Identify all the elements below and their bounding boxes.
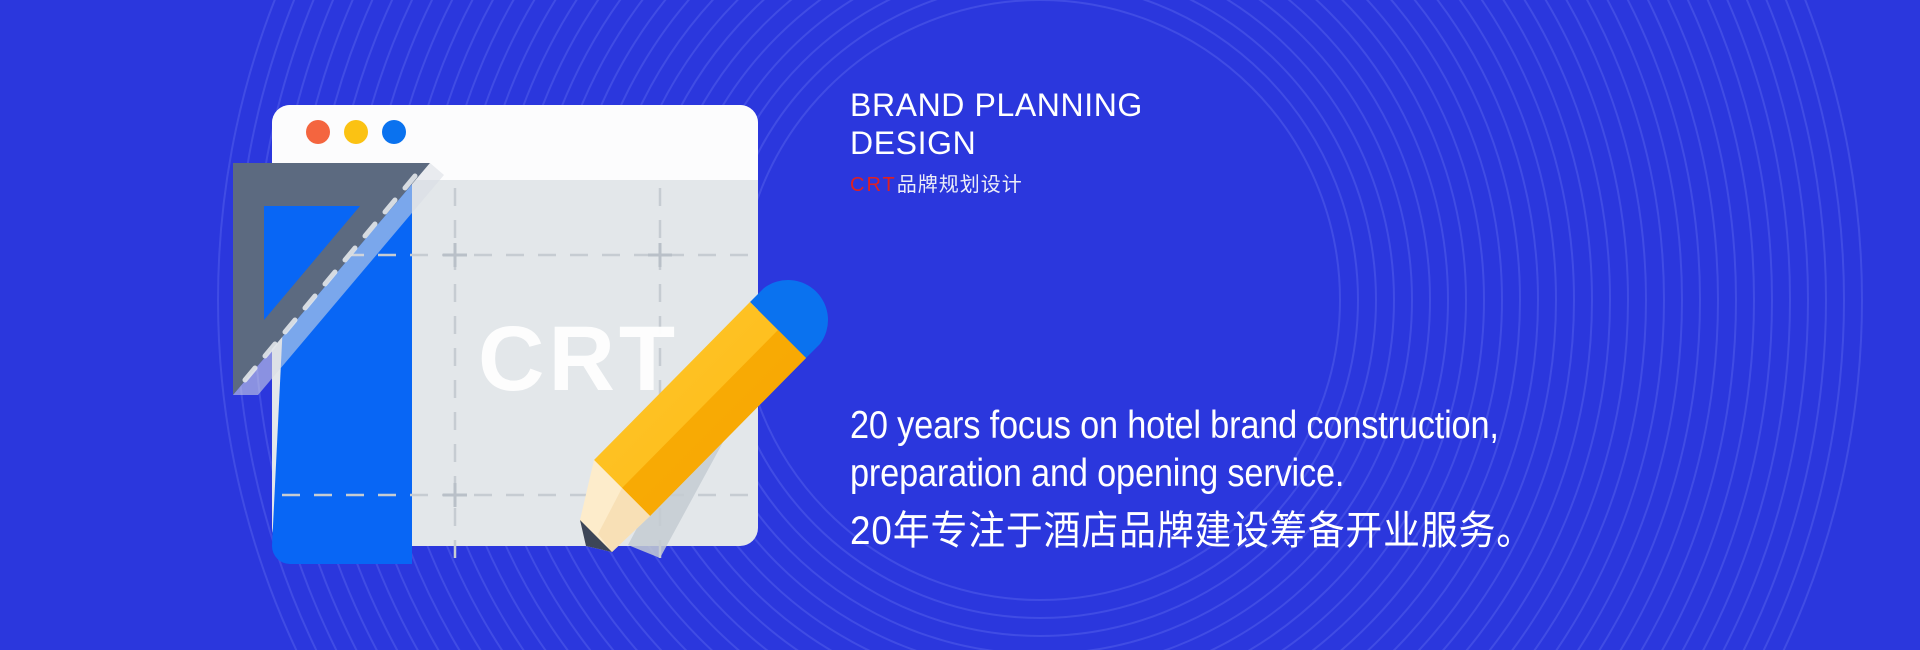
svg-text:CRT: CRT — [478, 308, 679, 410]
tagline-chinese: 20年专注于酒店品牌建设筹备开业服务。 — [850, 506, 1733, 556]
brand-banner: CRT — [0, 0, 1920, 650]
subtitle-brand: CRT — [850, 174, 897, 196]
subtitle-chinese: CRT品牌规划设计 — [850, 172, 1023, 198]
maximize-dot — [382, 120, 406, 144]
subtitle-chinese-text: 品牌规划设计 — [897, 174, 1023, 196]
tagline-english: 20 years focus on hotel brand constructi… — [850, 402, 1695, 498]
minimize-dot — [344, 120, 368, 144]
copy-block: BRAND PLANNING DESIGN CRT品牌规划设计 20 years… — [850, 0, 1850, 650]
close-dot — [306, 120, 330, 144]
headline-english: BRAND PLANNING DESIGN — [850, 86, 1410, 162]
tagline-block: 20 years focus on hotel brand constructi… — [850, 402, 1810, 556]
card-watermark: CRT — [478, 308, 679, 410]
